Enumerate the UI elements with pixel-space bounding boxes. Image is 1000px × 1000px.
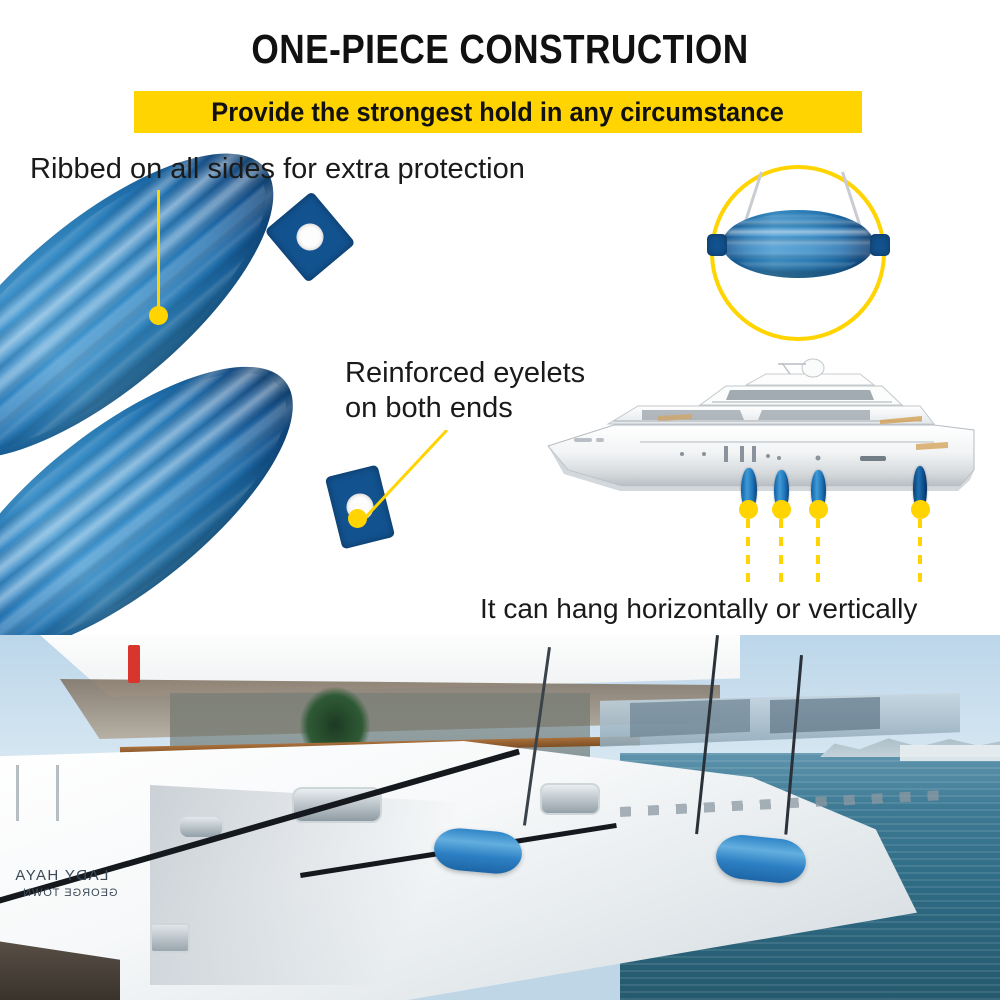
inset-eyelet-right	[870, 234, 890, 256]
yacht-dashed-line-3	[816, 519, 820, 591]
photo-distant-marina	[900, 745, 1000, 761]
yacht-callout-dot-1	[739, 500, 758, 519]
yacht-dashed-line-1	[746, 519, 750, 591]
photo-red-marker	[128, 645, 140, 683]
inset-fender	[722, 210, 874, 278]
yacht-callout-dot-3	[809, 500, 828, 519]
yacht-callout-dot-2	[772, 500, 791, 519]
yacht-dashed-line-2	[779, 519, 783, 591]
callout-dot-eyelets	[348, 509, 367, 528]
annotation-ribbed: Ribbed on all sides for extra protection	[30, 152, 525, 187]
leader-line-ribbed	[157, 190, 160, 316]
bottom-photo: LADY HAYA GEORGE TOWN	[0, 635, 1000, 1000]
yacht-vector	[530, 358, 1000, 558]
page-title: ONE-PIECE CONSTRUCTION	[70, 26, 930, 73]
yacht-illustration	[530, 358, 1000, 558]
yacht-callout-dot-4	[911, 500, 930, 519]
subtitle-text: Provide the strongest hold in any circum…	[212, 97, 785, 128]
photo-bow-railing	[10, 765, 140, 821]
photo-hatch	[150, 923, 190, 953]
eyelet-hole-upper	[291, 218, 329, 256]
hull-port: GEORGE TOWN	[22, 887, 118, 899]
fender-ribs	[725, 213, 871, 276]
yacht-dashed-line-4	[918, 519, 922, 591]
photo-window-dark-2	[770, 697, 880, 735]
callout-dot-ribbed	[149, 306, 168, 325]
infographic-canvas: ONE-PIECE CONSTRUCTION Provide the stron…	[0, 0, 1000, 1000]
annotation-eyelets-line2: on both ends	[345, 392, 513, 424]
photo-chrome-fairlead-3	[540, 783, 600, 815]
hull-name: LADY HAYA	[14, 867, 108, 884]
annotation-hang: It can hang horizontally or vertically	[480, 592, 917, 626]
subtitle-banner: Provide the strongest hold in any circum…	[134, 91, 862, 133]
inset-eyelet-left	[707, 234, 727, 256]
